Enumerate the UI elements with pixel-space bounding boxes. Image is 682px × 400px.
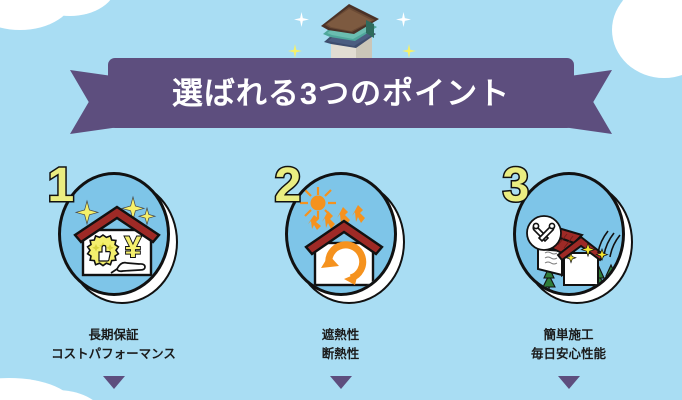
yellow-sparkle-icon (288, 44, 302, 58)
caption-line: コストパフォーマンス (0, 345, 227, 364)
feature-number: 1 (48, 162, 75, 210)
down-triangle-icon (558, 376, 580, 389)
yen-symbol-icon: ¥ (124, 231, 141, 264)
caption-line: 毎日安心性能 (455, 345, 682, 364)
feature-1-circle[interactable]: ¥ 1 (44, 164, 184, 314)
promo-banner-stage: 選ばれる3つのポイント (0, 0, 682, 400)
yellow-sparkle-icon (402, 44, 416, 58)
caption-line: 簡単施工 (455, 326, 682, 345)
feature-2-caption: 遮熱性 断熱性 (227, 326, 454, 365)
ribbon-banner: 選ばれる3つのポイント (0, 58, 682, 138)
ribbon-center-plate: 選ばれる3つのポイント (108, 58, 574, 128)
feature-number: 2 (275, 162, 302, 210)
feature-1-caption: 長期保証 コストパフォーマンス (0, 326, 227, 365)
down-triangle-icon (103, 376, 125, 389)
feature-number: 3 (503, 162, 530, 210)
feature-2-circle[interactable]: 2 (271, 164, 411, 314)
page-title: 選ばれる3つのポイント (172, 78, 510, 109)
feature-item-1[interactable]: ¥ 1 長期保証 コストパフォーマンス (0, 158, 227, 400)
caption-line: 断熱性 (227, 345, 454, 364)
white-sparkle-icon (396, 12, 411, 27)
down-triangle-icon (330, 376, 352, 389)
feature-3-caption: 簡単施工 毎日安心性能 (455, 326, 682, 365)
white-sparkle-icon (294, 12, 309, 27)
feature-3-circle[interactable]: 3 (499, 164, 639, 314)
svg-text:¥: ¥ (124, 231, 141, 264)
feature-item-2[interactable]: 2 遮熱性 断熱性 (227, 158, 454, 400)
feature-list: ¥ 1 長期保証 コストパフォーマンス (0, 158, 682, 400)
tools-badge-icon (527, 216, 561, 250)
caption-line: 遮熱性 (227, 326, 454, 345)
caption-line: 長期保証 (0, 326, 227, 345)
feature-item-3[interactable]: 3 簡単施工 毎日安心性能 (455, 158, 682, 400)
